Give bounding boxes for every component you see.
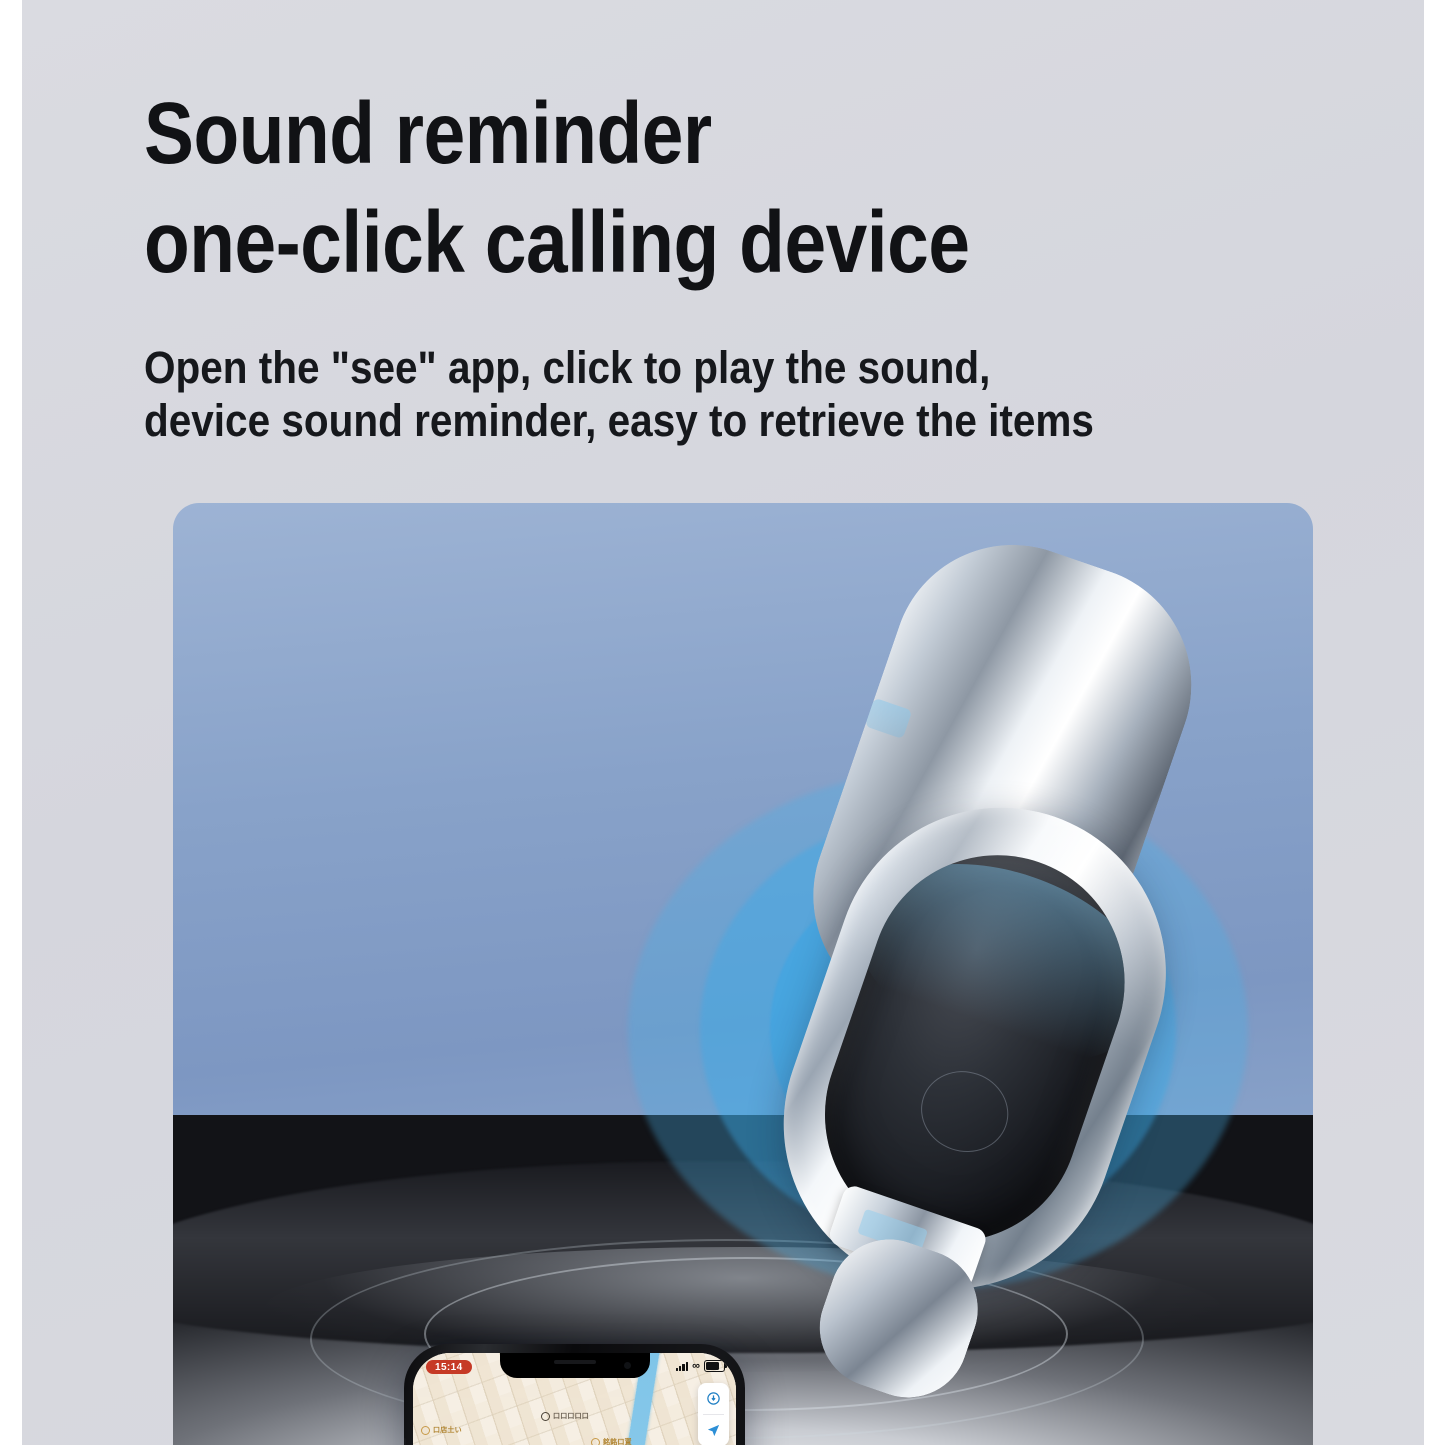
compass-button[interactable] (698, 1383, 729, 1414)
earpiece-speaker (554, 1360, 596, 1364)
promo-page: Sound reminder one-click calling device … (22, 0, 1424, 1445)
signal-bars-icon (676, 1362, 689, 1371)
map-controls[interactable] (698, 1383, 729, 1445)
phone-notch (500, 1353, 650, 1378)
page-subtitle: Open the "see" app, click to play the so… (144, 342, 1251, 447)
map-poi-dot-icon (421, 1426, 430, 1435)
map-poi-dot-icon (591, 1438, 600, 1445)
locate-button[interactable] (698, 1415, 729, 1445)
wifi-icon: ∞ (692, 1361, 700, 1372)
battery-icon (704, 1360, 725, 1372)
headline-line-2: one-click calling device (144, 189, 1167, 298)
page-title: Sound reminder one-click calling device (144, 80, 1167, 298)
phone-screen: 口店土い庄山力古字ぐス山ろ型田しっ弌栗広しカカ古口昧つ口ワ、昧有口口口口口銘銘口… (413, 1353, 736, 1445)
subtitle-line-2: device sound reminder, easy to retrieve … (144, 395, 1251, 448)
status-bar: 15:14 ∞ (413, 1353, 736, 1383)
headline-line-1: Sound reminder (144, 85, 712, 182)
system-icons: ∞ (676, 1360, 725, 1372)
map-poi-dot-icon (541, 1412, 550, 1421)
recording-time-badge: 15:14 (426, 1360, 472, 1374)
front-camera (624, 1362, 631, 1369)
map-poi-label: 銘銘口置 (603, 1437, 632, 1445)
map-poi[interactable]: 口口口口口 (541, 1411, 589, 1421)
hero-image: 口店土い庄山力古字ぐス山ろ型田しっ弌栗広しカカ古口昧つ口ワ、昧有口口口口口銘銘口… (173, 503, 1313, 1445)
map-poi-label: 口口口口口 (553, 1411, 589, 1421)
mute-switch[interactable] (404, 1438, 406, 1445)
map-poi[interactable]: 口店土い (421, 1425, 462, 1435)
subtitle-line-1: Open the "see" app, click to play the so… (144, 342, 990, 393)
smartphone-mockup: 口店土い庄山力古字ぐス山ろ型田しっ弌栗広しカカ古口昧つ口ワ、昧有口口口口口銘銘口… (404, 1344, 745, 1445)
map-poi-label: 口店土い (433, 1425, 462, 1435)
map-poi[interactable]: 銘銘口置 (591, 1437, 632, 1445)
